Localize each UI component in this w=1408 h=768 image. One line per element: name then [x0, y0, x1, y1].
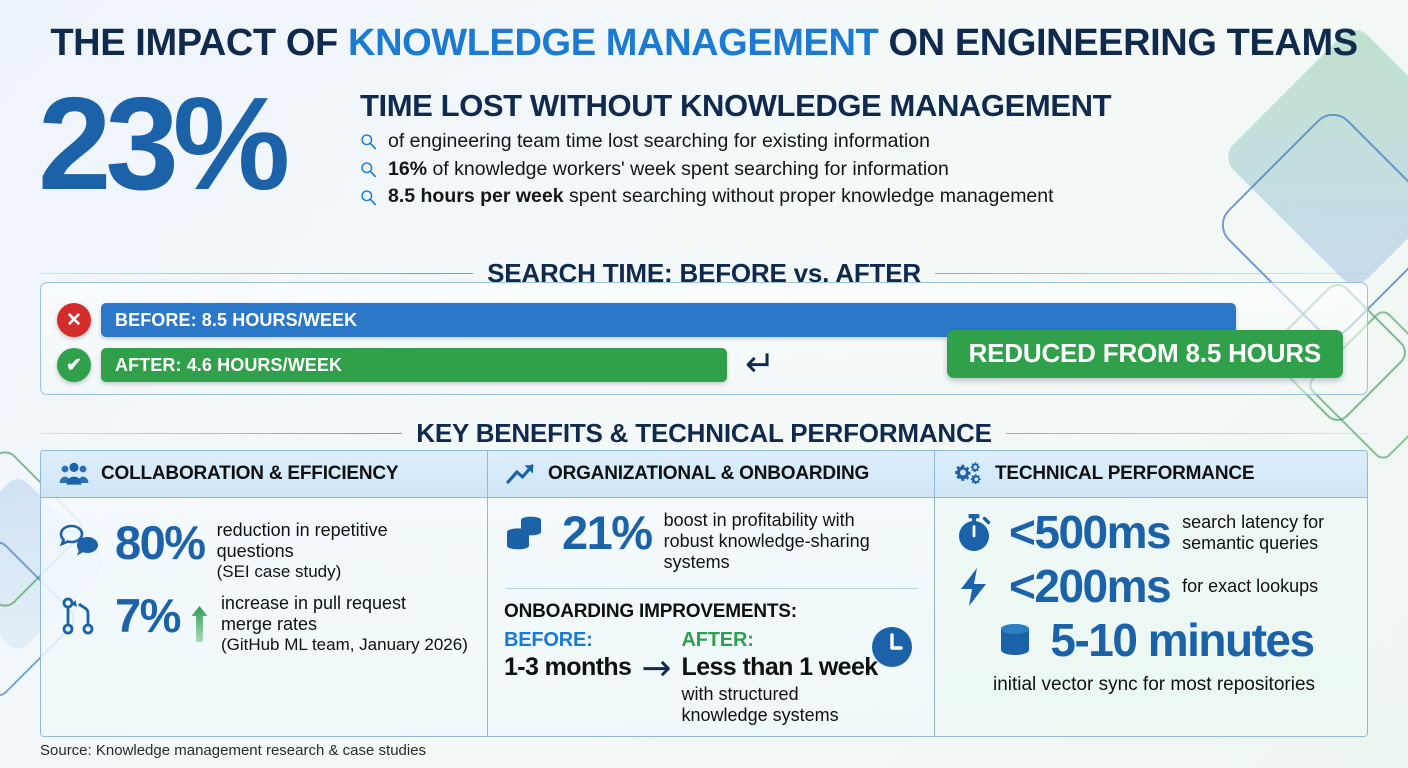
benefits-column-technical-body: <500ms search latency for semantic queri…	[935, 498, 1368, 736]
rule-line-right	[1006, 433, 1368, 434]
onboarding-after-note-line1: with structured	[682, 684, 878, 705]
stat-vector-sync-time: 5-10 minutes initial vector sync for mos…	[951, 618, 1355, 696]
stat-desc-500ms: search latency for semantic queries	[1182, 512, 1324, 554]
hero-bullet-1: of engineering team time lost searching …	[360, 128, 1111, 156]
rule-line-left	[40, 273, 473, 274]
onboarding-before-value: 1-3 months	[504, 653, 631, 682]
stat-desc-line1: for exact lookups	[1182, 576, 1318, 597]
stat-desc-line1: reduction in repetitive	[217, 520, 388, 541]
search-time-section: SEARCH TIME: BEFORE vs. AFTER ✕ BEFORE: …	[40, 282, 1368, 395]
stat-desc-line3: (SEI case study)	[217, 562, 388, 582]
key-benefits-title-rule: KEY BENEFITS & TECHNICAL PERFORMANCE	[40, 418, 1368, 449]
search-time-box: ✕ BEFORE: 8.5 HOURS/WEEK ✔ AFTER: 4.6 HO…	[40, 282, 1368, 395]
stat-desc-21-percent: boost in profitability with robust knowl…	[664, 510, 870, 574]
onboarding-before-label: BEFORE:	[504, 629, 631, 652]
stat-desc-80-percent: reduction in repetitive questions (SEI c…	[217, 520, 388, 583]
hero-big-number: 23%	[38, 78, 284, 210]
benefits-column-technical: TECHNICAL PERFORMANCE <500ms search late…	[934, 451, 1368, 736]
hero-bullet-3-text: spent searching without proper knowledge…	[564, 185, 1054, 207]
onboarding-after-note-line2: knowledge systems	[682, 705, 878, 726]
hero-bullet-1-text: of engineering team time lost searching …	[388, 128, 930, 156]
up-arrow-icon	[190, 604, 209, 644]
stat-profitability-boost: 21% boost in profitability with robust k…	[504, 510, 920, 574]
column-header-technical: TECHNICAL PERFORMANCE	[935, 451, 1368, 498]
search-icon	[360, 189, 377, 206]
stat-reduction-repetitive-questions: 80% reduction in repetitive questions (S…	[57, 520, 473, 583]
onboarding-after-note: with structured knowledge systems	[682, 684, 878, 726]
git-merge-icon	[57, 593, 103, 639]
column-header-organizational-label: ORGANIZATIONAL & ONBOARDING	[548, 463, 869, 485]
stat-desc-line1: boost in profitability with	[664, 510, 870, 531]
onboarding-arrow-icon: →	[641, 651, 671, 687]
hero-bullet-3-bold: 8.5 hours per week	[388, 185, 564, 207]
stat-desc-200ms: for exact lookups	[1182, 576, 1318, 597]
hero-bullet-2-bold: 16%	[388, 158, 427, 180]
page-title-part2: ON ENGINEERING TEAMS	[878, 22, 1357, 64]
stat-desc-line3: (GitHub ML team, January 2026)	[221, 635, 468, 655]
stat-desc-vector-sync: initial vector sync for most repositorie…	[991, 674, 1315, 696]
hero-bullet-2: 16% of knowledge workers' week spent sea…	[360, 156, 1111, 184]
stat-value-500ms: <500ms	[1009, 510, 1170, 555]
stat-vector-sync-top: 5-10 minutes	[992, 618, 1313, 664]
bar-after: AFTER: 4.6 HOURS/WEEK	[101, 348, 727, 382]
bar-before-label: BEFORE: 8.5 HOURS/WEEK	[115, 310, 357, 331]
stat-exact-lookup-latency: <200ms for exact lookups	[951, 564, 1355, 610]
page-title-part1: THE IMPACT OF	[50, 22, 348, 64]
stat-value-80-percent: 80%	[115, 520, 205, 566]
key-benefits-title: KEY BENEFITS & TECHNICAL PERFORMANCE	[416, 418, 991, 449]
status-badge-after-check-icon: ✔	[57, 348, 91, 382]
database-icon	[992, 618, 1038, 664]
chat-bubbles-icon	[57, 520, 103, 566]
onboarding-comparison: BEFORE: 1-3 months → AFTER: Less than 1 …	[504, 629, 920, 726]
stat-value-200ms: <200ms	[1009, 564, 1170, 609]
onboarding-after-value: Less than 1 week	[682, 653, 878, 682]
key-benefits-section: KEY BENEFITS & TECHNICAL PERFORMANCE COL…	[40, 450, 1368, 737]
benefits-column-collaboration: COLLABORATION & EFFICIENCY 80% reduction…	[41, 451, 487, 736]
stat-desc-line2: robust knowledge-sharing	[664, 531, 870, 552]
search-icon	[360, 133, 377, 150]
stat-desc-7-percent: increase in pull request merge rates (Gi…	[221, 593, 468, 656]
stat-value-7-percent: 7%	[115, 593, 180, 639]
column-header-technical-label: TECHNICAL PERFORMANCE	[995, 463, 1254, 485]
stat-desc-line1: search latency for	[1182, 512, 1324, 533]
coins-stack-icon	[504, 510, 550, 556]
stat-value-21-percent: 21%	[562, 510, 652, 556]
page-title-highlight: KNOWLEDGE MANAGEMENT	[348, 22, 878, 64]
trend-up-icon	[506, 461, 536, 487]
stat-pull-request-merge-rates: 7% increase in pull request merge rates …	[57, 593, 473, 656]
rule-line-left	[40, 433, 402, 434]
people-group-icon	[59, 461, 89, 487]
column-header-organizational: ORGANIZATIONAL & ONBOARDING	[488, 451, 934, 498]
page-title: THE IMPACT OF KNOWLEDGE MANAGEMENT ON EN…	[0, 22, 1408, 65]
bar-row-after: ✔ AFTER: 4.6 HOURS/WEEK ↵	[57, 347, 775, 383]
gears-icon	[953, 461, 983, 487]
stat-desc-line2: questions	[217, 541, 388, 562]
onboarding-after-block: AFTER: Less than 1 week with structured …	[682, 629, 878, 726]
stat-search-latency: <500ms search latency for semantic queri…	[951, 510, 1355, 556]
stat-value-5-10-minutes: 5-10 minutes	[1050, 618, 1313, 663]
benefits-grid: COLLABORATION & EFFICIENCY 80% reduction…	[40, 450, 1368, 737]
bar-after-label: AFTER: 4.6 HOURS/WEEK	[115, 355, 342, 376]
onboarding-divider	[506, 588, 918, 589]
reduction-arrow-icon: ↵	[745, 347, 775, 383]
stopwatch-icon	[951, 510, 997, 556]
hero-heading: TIME LOST WITHOUT KNOWLEDGE MANAGEMENT	[360, 88, 1111, 124]
stat-desc-line1: increase in pull request	[221, 593, 468, 614]
hero-stat-section: 23% TIME LOST WITHOUT KNOWLEDGE MANAGEME…	[38, 84, 1378, 234]
rule-line-right	[935, 273, 1368, 274]
hero-body: TIME LOST WITHOUT KNOWLEDGE MANAGEMENT o…	[360, 88, 1111, 211]
reduction-badge: REDUCED FROM 8.5 HOURS	[947, 330, 1343, 378]
benefits-column-organizational: ORGANIZATIONAL & ONBOARDING	[487, 451, 934, 736]
clock-icon	[870, 625, 914, 669]
onboarding-after-label: AFTER:	[682, 629, 878, 652]
search-icon	[360, 161, 377, 178]
status-badge-before-x-icon: ✕	[57, 303, 91, 337]
lightning-bolt-icon	[951, 564, 997, 610]
column-header-collaboration: COLLABORATION & EFFICIENCY	[41, 451, 487, 498]
hero-bullet-2-text: of knowledge workers' week spent searchi…	[427, 158, 949, 180]
benefits-column-collaboration-body: 80% reduction in repetitive questions (S…	[41, 498, 487, 736]
onboarding-title: ONBOARDING IMPROVEMENTS:	[504, 601, 920, 623]
hero-bullet-3: 8.5 hours per week spent searching witho…	[360, 183, 1111, 211]
onboarding-before-block: BEFORE: 1-3 months	[504, 629, 631, 682]
source-note: Source: Knowledge management research & …	[40, 742, 426, 759]
stat-desc-line2: merge rates	[221, 614, 468, 635]
column-header-collaboration-label: COLLABORATION & EFFICIENCY	[101, 463, 398, 485]
benefits-column-organizational-body: 21% boost in profitability with robust k…	[488, 498, 934, 736]
stat-desc-line3: systems	[664, 552, 870, 573]
stat-desc-line2: semantic queries	[1182, 533, 1324, 554]
